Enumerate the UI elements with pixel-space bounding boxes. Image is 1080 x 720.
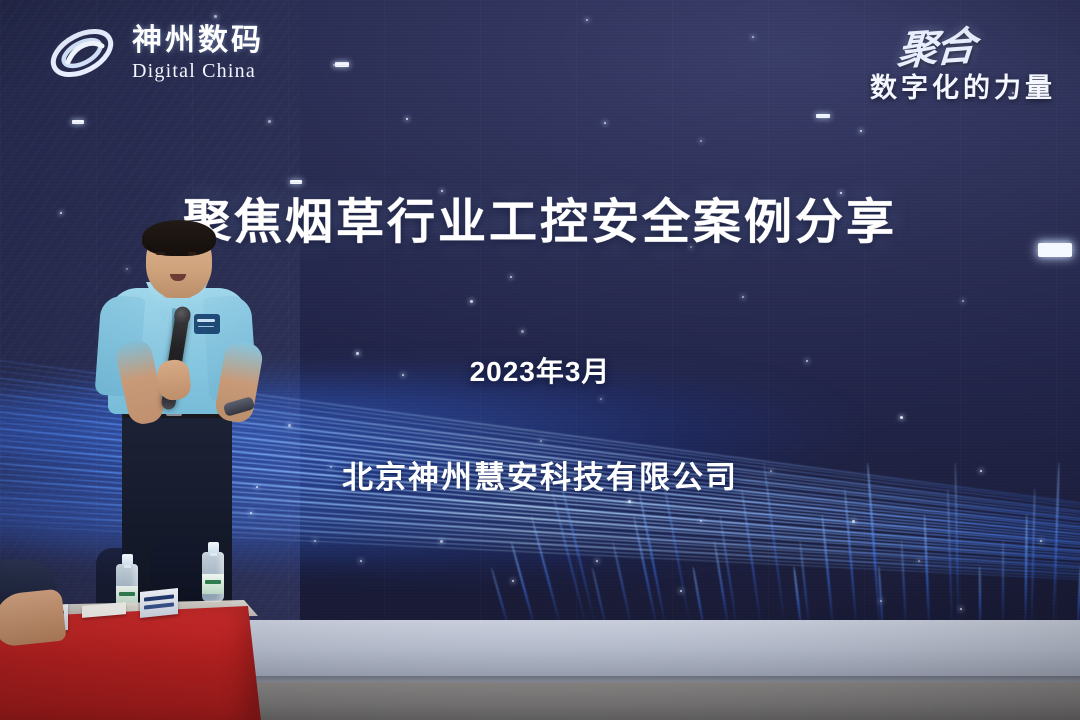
name-card-icon xyxy=(140,588,178,618)
water-bottle-icon xyxy=(202,540,224,602)
speaker-eye-left xyxy=(156,252,165,255)
brand-logo: 神州数码 Digital China xyxy=(46,22,264,84)
audience-member-arm xyxy=(0,588,67,647)
company-badge-icon xyxy=(194,314,220,334)
event-slogan: 聚合 数字化的力量 xyxy=(870,16,1056,105)
speaker-eye-right xyxy=(188,252,197,255)
slogan-calligraphy: 聚合 xyxy=(896,13,977,76)
brand-name-en: Digital China xyxy=(132,61,264,81)
speaker-hair xyxy=(142,220,216,256)
screen-edge-light xyxy=(1038,243,1072,257)
screenshot-root: 神州数码 Digital China 聚合 数字化的力量 聚焦烟草行业工控安全案… xyxy=(0,0,1080,720)
brand-name-cn: 神州数码 xyxy=(132,26,264,56)
speaker-hand-holding-mic xyxy=(156,358,192,401)
swirl-galaxy-icon xyxy=(46,22,120,84)
